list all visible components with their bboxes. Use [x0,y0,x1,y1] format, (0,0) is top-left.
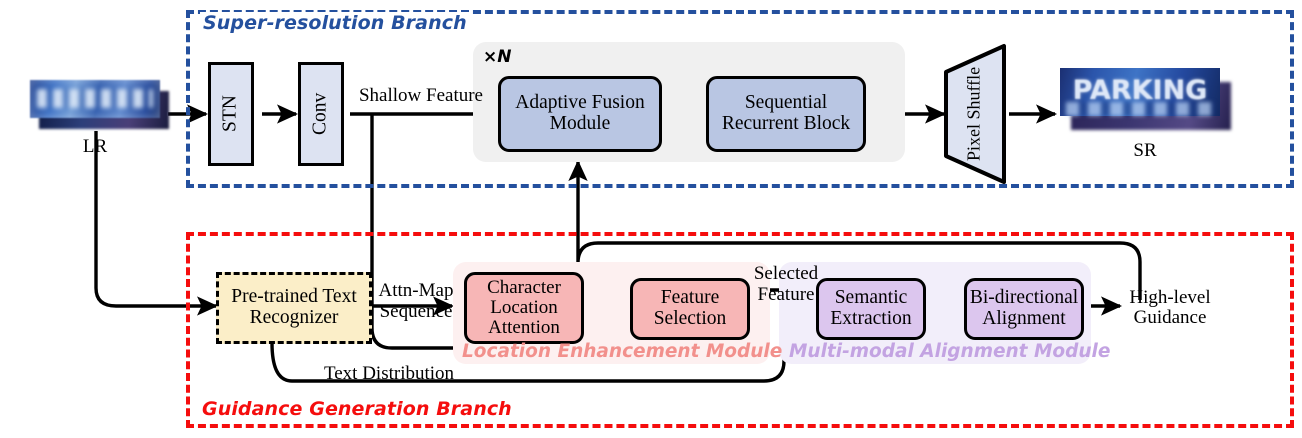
edge-label-shallow-feature: Shallow Feature [351,86,491,106]
edge-label-high-level-guidance: High-level Guidance [1108,288,1232,328]
image-lr [30,80,172,132]
edge-label-text-distribution: Text Distribution [282,364,496,384]
recurrent-repeat-count: ×N [483,47,511,67]
location-enhancement-label: Location Enhancement Module [462,341,782,362]
guidance-generation-branch-label: Guidance Generation Branch [199,398,515,420]
image-sr: PARKING [1060,68,1236,134]
image-lr-text [37,89,153,108]
block-sequential-recurrent-block[interactable]: Sequential Recurrent Block [706,76,866,152]
edge-label-selected-feature: Selected Feature [744,264,828,305]
diagram-canvas: Super-resolution Branch Guidance Generat… [0,0,1302,438]
image-lr-plate [30,80,160,118]
block-adaptive-fusion-module[interactable]: Adaptive Fusion Module [498,76,662,152]
image-lr-caption: LR [50,136,140,158]
image-sr-plate: PARKING [1060,68,1220,116]
block-conv[interactable]: Conv [298,62,344,166]
block-character-location-attention[interactable]: Character Location Attention [464,272,584,344]
block-stn[interactable]: STN [208,62,254,166]
block-pixel-shuffle[interactable]: Pixel Shuffle [938,42,1012,186]
edge-label-attn-map-sequence: Attn-Map Sequence [376,281,456,322]
block-pre-trained-text-recognizer[interactable]: Pre-trained Text Recognizer [216,272,372,344]
block-bi-directional-alignment[interactable]: Bi-directional Alignment [964,278,1084,340]
block-semantic-extraction[interactable]: Semantic Extraction [816,278,926,340]
multi-modal-alignment-label: Multi-modal Alignment Module [789,341,1110,362]
image-sr-caption: SR [1090,140,1200,162]
super-resolution-branch-label: Super-resolution Branch [200,12,470,34]
block-pixel-shuffle-label: Pixel Shuffle [960,64,988,164]
image-sr-lower-band [1066,102,1214,116]
block-feature-selection[interactable]: Feature Selection [630,278,750,340]
